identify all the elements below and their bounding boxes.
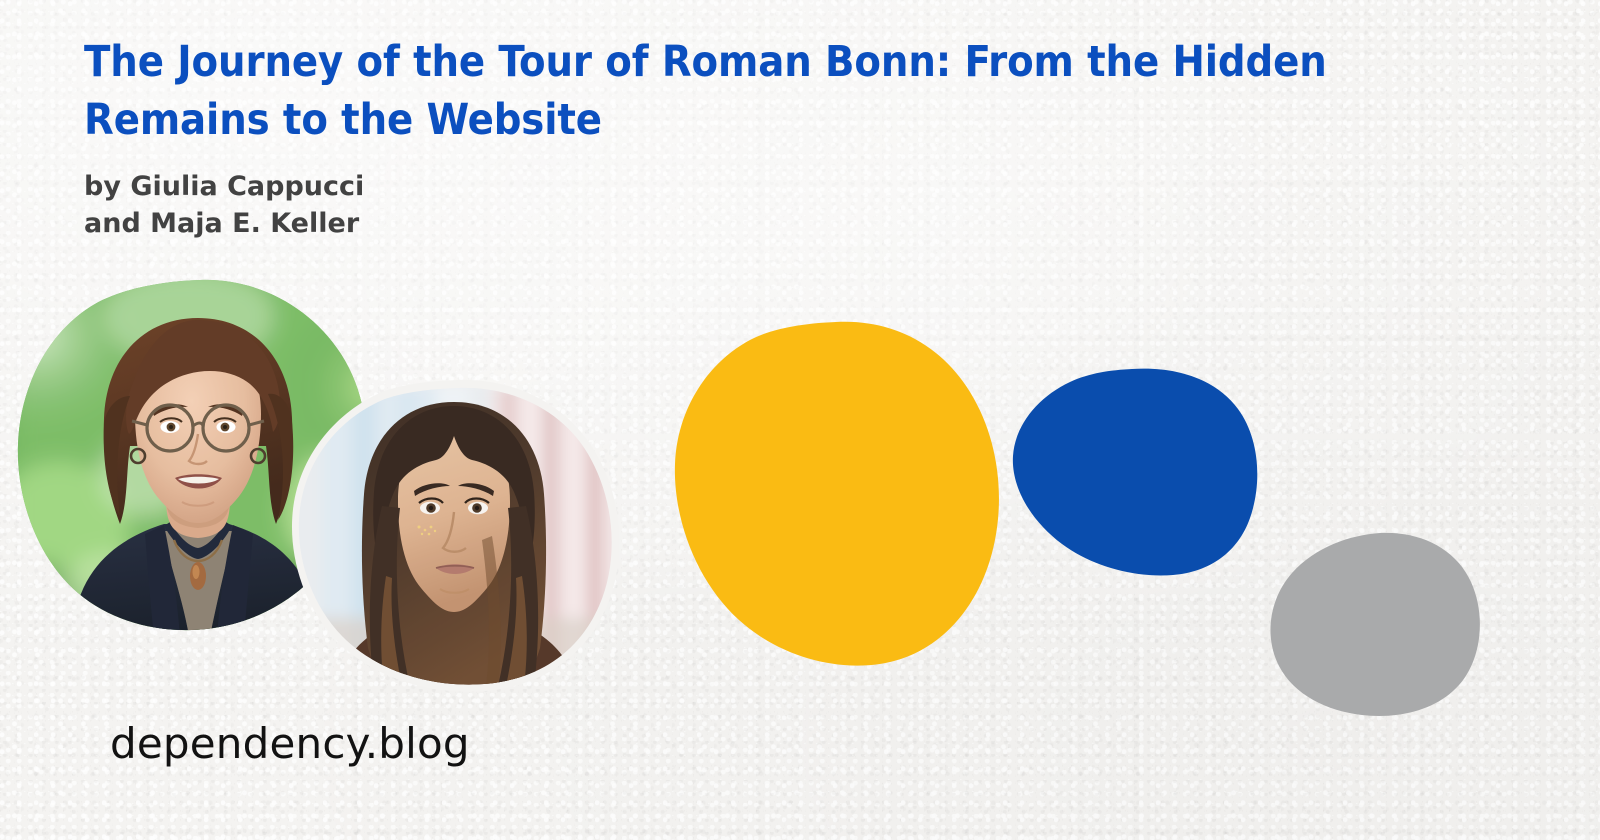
blue-blob xyxy=(1000,366,1262,578)
page-title: The Journey of the Tour of Roman Bonn: F… xyxy=(84,33,1344,149)
footer-brand-name: dependency.blog xyxy=(110,718,470,770)
yellow-blob xyxy=(660,318,1005,668)
byline-authors: by Giulia Cappucci and Maja E. Keller xyxy=(84,168,364,242)
avatar-maja-keller xyxy=(286,386,622,686)
gray-blob xyxy=(1266,530,1484,720)
blog-promo-card: The Journey of the Tour of Roman Bonn: F… xyxy=(0,0,1600,840)
